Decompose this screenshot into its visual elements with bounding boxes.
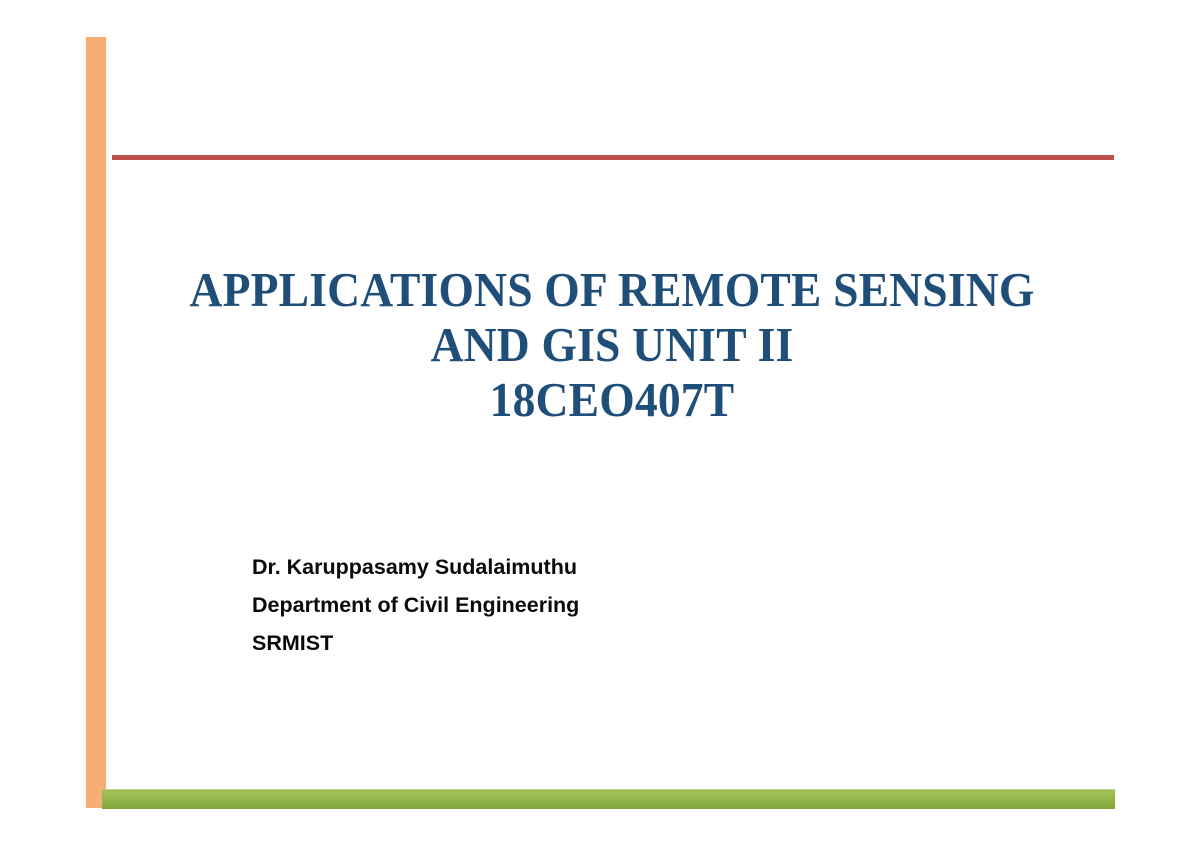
slide-title: APPLICATIONS OF REMOTE SENSING AND GIS U… (130, 262, 1094, 427)
title-line-3-course-code: 18CEO407T (164, 372, 1061, 427)
author-block: Dr. Karuppasamy Sudalaimuthu Department … (252, 548, 579, 662)
title-line-1: APPLICATIONS OF REMOTE SENSING (164, 262, 1061, 317)
green-bottom-accent-bar (102, 789, 1115, 809)
author-department: Department of Civil Engineering (252, 586, 579, 624)
orange-vertical-accent-bar (86, 37, 106, 808)
author-name: Dr. Karuppasamy Sudalaimuthu (252, 548, 579, 586)
title-line-2: AND GIS UNIT II (164, 317, 1061, 372)
title-slide: APPLICATIONS OF REMOTE SENSING AND GIS U… (0, 0, 1200, 848)
author-institution: SRMIST (252, 624, 579, 662)
red-horizontal-rule (112, 155, 1114, 160)
